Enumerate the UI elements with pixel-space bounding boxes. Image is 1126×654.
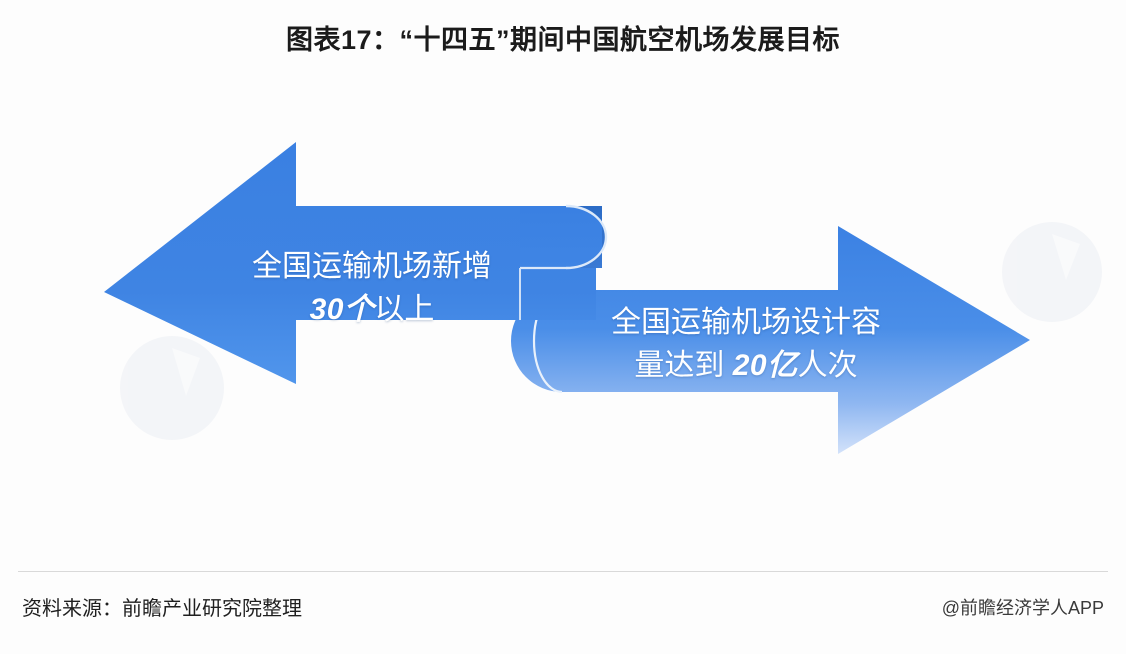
- source-note: 资料来源：前瞻产业研究院整理: [22, 592, 302, 621]
- app-credit: @前瞻经济学人APP: [942, 594, 1104, 620]
- page-title: 图表17：“十四五”期间中国航空机场发展目标: [0, 18, 1126, 57]
- infographic-page: 图表17：“十四五”期间中国航空机场发展目标: [0, 0, 1126, 654]
- diagram-canvas: 全国运输机场新增 30个以上 全国运输机场设计容 量达到 20亿人次: [0, 120, 1126, 540]
- arrow-diagram-svg: [0, 120, 1126, 540]
- footer-divider: [18, 571, 1108, 572]
